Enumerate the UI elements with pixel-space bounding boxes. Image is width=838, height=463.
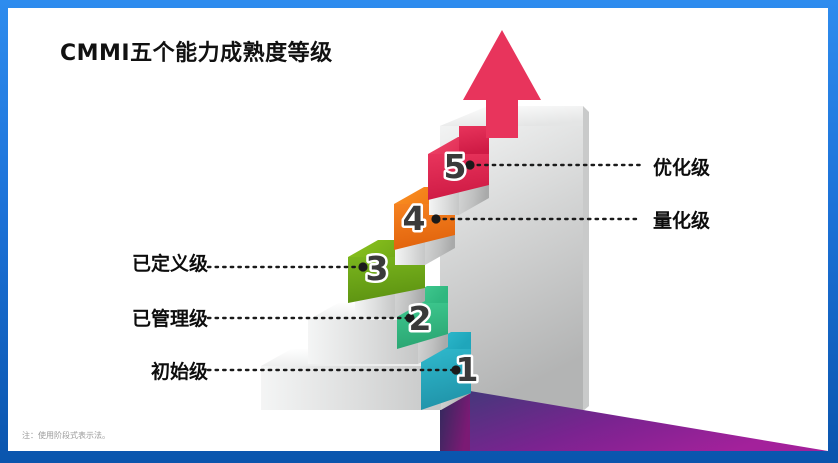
callout-label-optimizing: 优化级 xyxy=(653,153,710,180)
step-number-4: 4 xyxy=(403,199,426,238)
callout-label-managed: 已管理级 xyxy=(98,304,208,331)
slide-canvas: CMMI五个能力成熟度等级 xyxy=(8,8,828,451)
step-number-5: 5 xyxy=(444,147,467,186)
entry-ramp xyxy=(440,391,828,451)
step-number-1: 1 xyxy=(456,350,479,389)
callout-label-initial: 初始级 xyxy=(98,357,208,384)
leader-dot-4 xyxy=(431,214,440,223)
callout-label-defined: 已定义级 xyxy=(98,249,208,276)
slide-frame: CMMI五个能力成熟度等级 xyxy=(0,0,838,463)
step-number-3: 3 xyxy=(366,249,389,288)
leader-dot-5 xyxy=(465,160,474,169)
slide-footnote: 注：使用阶段式表示法。 xyxy=(22,430,110,441)
callout-label-quantified: 量化级 xyxy=(653,206,710,233)
step-number-2: 2 xyxy=(409,299,432,338)
